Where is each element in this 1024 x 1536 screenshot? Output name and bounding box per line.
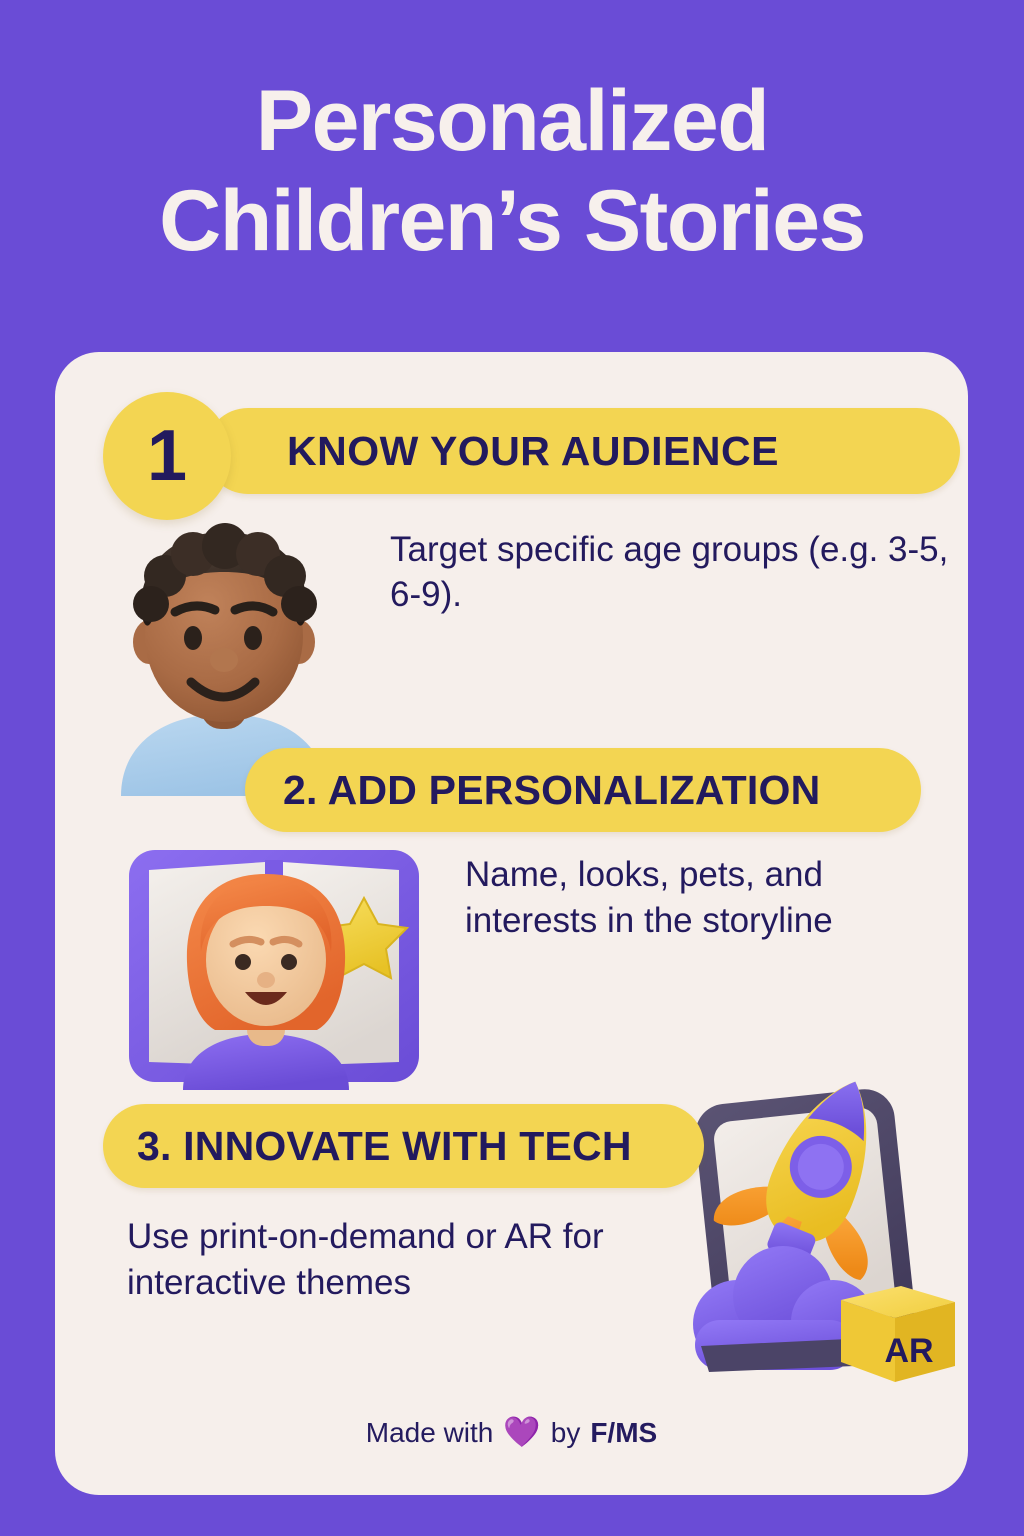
footer-prefix: Made with	[366, 1417, 494, 1449]
step-1-heading-label: KNOW YOUR AUDIENCE	[287, 428, 779, 475]
step-1-body-text: Target specific age groups (e.g. 3-5, 6-…	[390, 528, 950, 618]
step-2-heading-label: 2. ADD PERSONALIZATION	[283, 767, 820, 814]
purple-heart-icon: 💜	[503, 1418, 540, 1448]
page-title-line-2: Children’s Stories	[0, 178, 1024, 264]
step-3-body-text: Use print-on-demand or AR for interactiv…	[127, 1214, 667, 1306]
step-3-heading-pill[interactable]: 3. INNOVATE WITH TECH	[103, 1104, 704, 1188]
page-title: Personalized Children’s Stories	[0, 78, 1024, 264]
footer-middle: by	[551, 1417, 581, 1449]
step-1-heading-pill[interactable]: KNOW YOUR AUDIENCE	[205, 408, 960, 494]
step-1-number-badge: 1	[103, 392, 231, 520]
footer-credit: Made with 💜 by F/MS	[55, 1417, 968, 1449]
footer-brand: F/MS	[590, 1417, 657, 1449]
page-title-line-1: Personalized	[0, 78, 1024, 164]
step-2-heading-pill[interactable]: 2. ADD PERSONALIZATION	[245, 748, 921, 832]
steps-card: 1 KNOW YOUR AUDIENCE Target specific age…	[55, 352, 968, 1495]
step-2-body-text: Name, looks, pets, and interests in the …	[465, 852, 955, 944]
rocket-tablet-ar-icon: AR	[665, 1074, 965, 1394]
ar-cube-label: AR	[884, 1332, 933, 1370]
open-book-icon	[123, 840, 425, 1090]
step-3-heading-label: 3. INNOVATE WITH TECH	[137, 1123, 632, 1170]
